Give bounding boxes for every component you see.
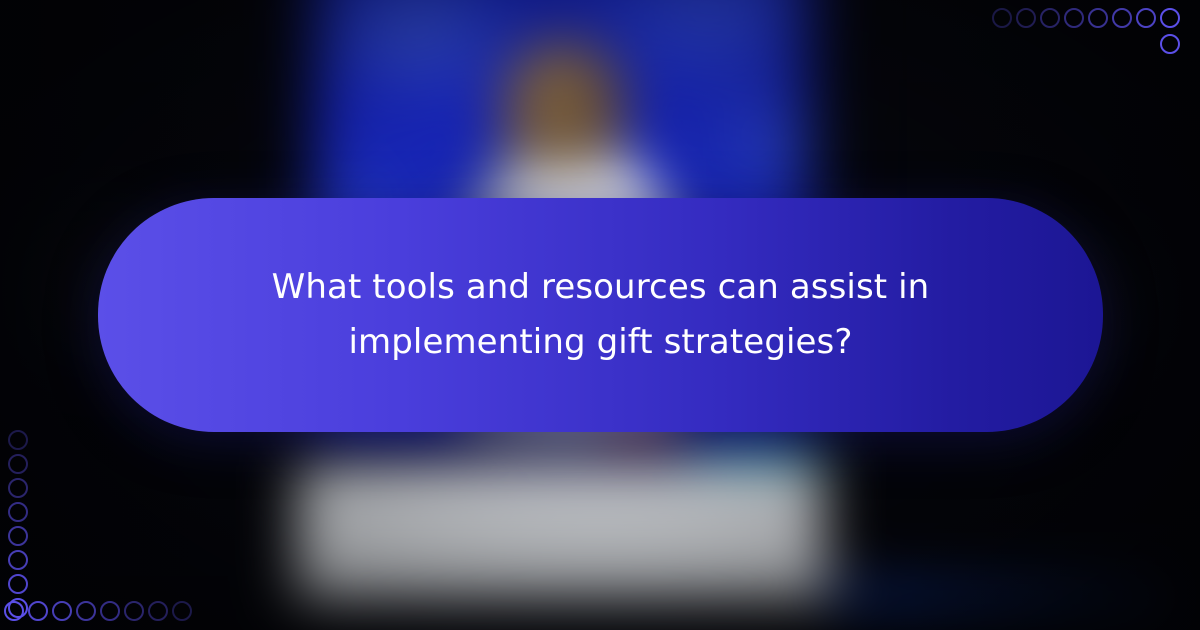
slide-canvas: What tools and resources can assist in i… xyxy=(0,0,1200,630)
question-text: What tools and resources can assist in i… xyxy=(221,260,981,370)
background-person-head xyxy=(501,37,626,167)
background-violet-line xyxy=(293,451,834,456)
question-card[interactable]: What tools and resources can assist in i… xyxy=(98,198,1103,432)
background-white-podium xyxy=(296,466,824,601)
background-bottom-blue-band xyxy=(829,578,1183,609)
